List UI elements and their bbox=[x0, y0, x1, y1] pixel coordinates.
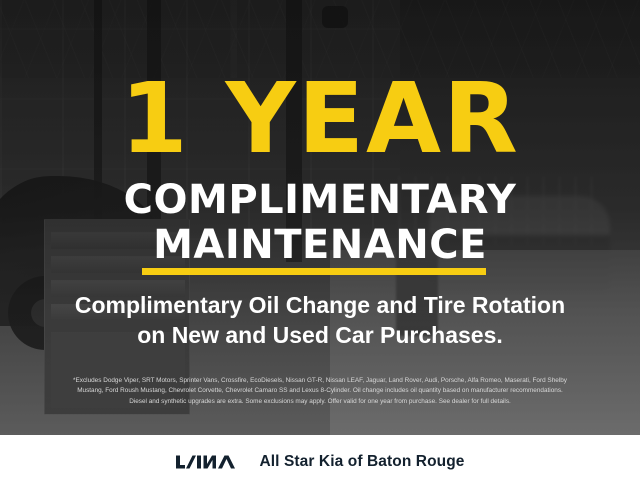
dealer-name: All Star Kia of Baton Rouge bbox=[259, 453, 464, 471]
description-line-2: on New and Used Car Purchases. bbox=[0, 320, 640, 350]
description-line-1: Complimentary Oil Change and Tire Rotati… bbox=[0, 290, 640, 320]
hero-section: 1 YEAR COMPLIMENTARY MAINTENANCE Complim… bbox=[0, 0, 640, 435]
promo-headline: 1 YEAR bbox=[0, 74, 640, 163]
subheadline-line-1: COMPLIMENTARY bbox=[0, 178, 640, 223]
promo-content: 1 YEAR COMPLIMENTARY MAINTENANCE Complim… bbox=[0, 0, 640, 435]
promo-subheadline: COMPLIMENTARY MAINTENANCE bbox=[0, 178, 640, 268]
legal-disclaimer: *Excludes Dodge Viper, SRT Motors, Sprin… bbox=[0, 376, 640, 407]
subheadline-line-2: MAINTENANCE bbox=[0, 223, 640, 268]
promotional-ad-banner: 1 YEAR COMPLIMENTARY MAINTENANCE Complim… bbox=[0, 0, 640, 488]
disclaimer-line-3: Diesel and synthetic upgrades are extra.… bbox=[14, 397, 626, 407]
kia-logo-icon bbox=[175, 451, 241, 473]
disclaimer-line-1: *Excludes Dodge Viper, SRT Motors, Sprin… bbox=[14, 376, 626, 386]
yellow-divider-rule bbox=[142, 268, 486, 275]
promo-description: Complimentary Oil Change and Tire Rotati… bbox=[0, 290, 640, 351]
footer-bar: All Star Kia of Baton Rouge bbox=[0, 435, 640, 488]
disclaimer-line-2: Mustang, Ford Roush Mustang, Chevrolet C… bbox=[14, 386, 626, 396]
